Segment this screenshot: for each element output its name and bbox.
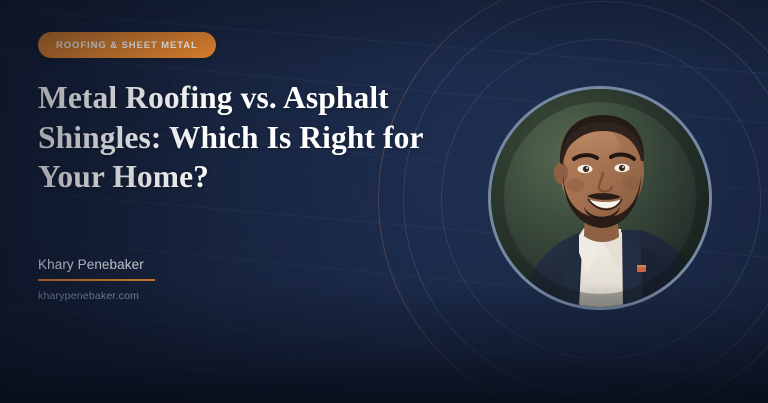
vignette-bottom xyxy=(0,283,768,403)
blog-hero-banner: ROOFING & SHEET METAL Metal Roofing vs. … xyxy=(0,0,768,403)
author-portrait-photo xyxy=(491,89,709,307)
author-portrait-frame xyxy=(488,86,712,310)
